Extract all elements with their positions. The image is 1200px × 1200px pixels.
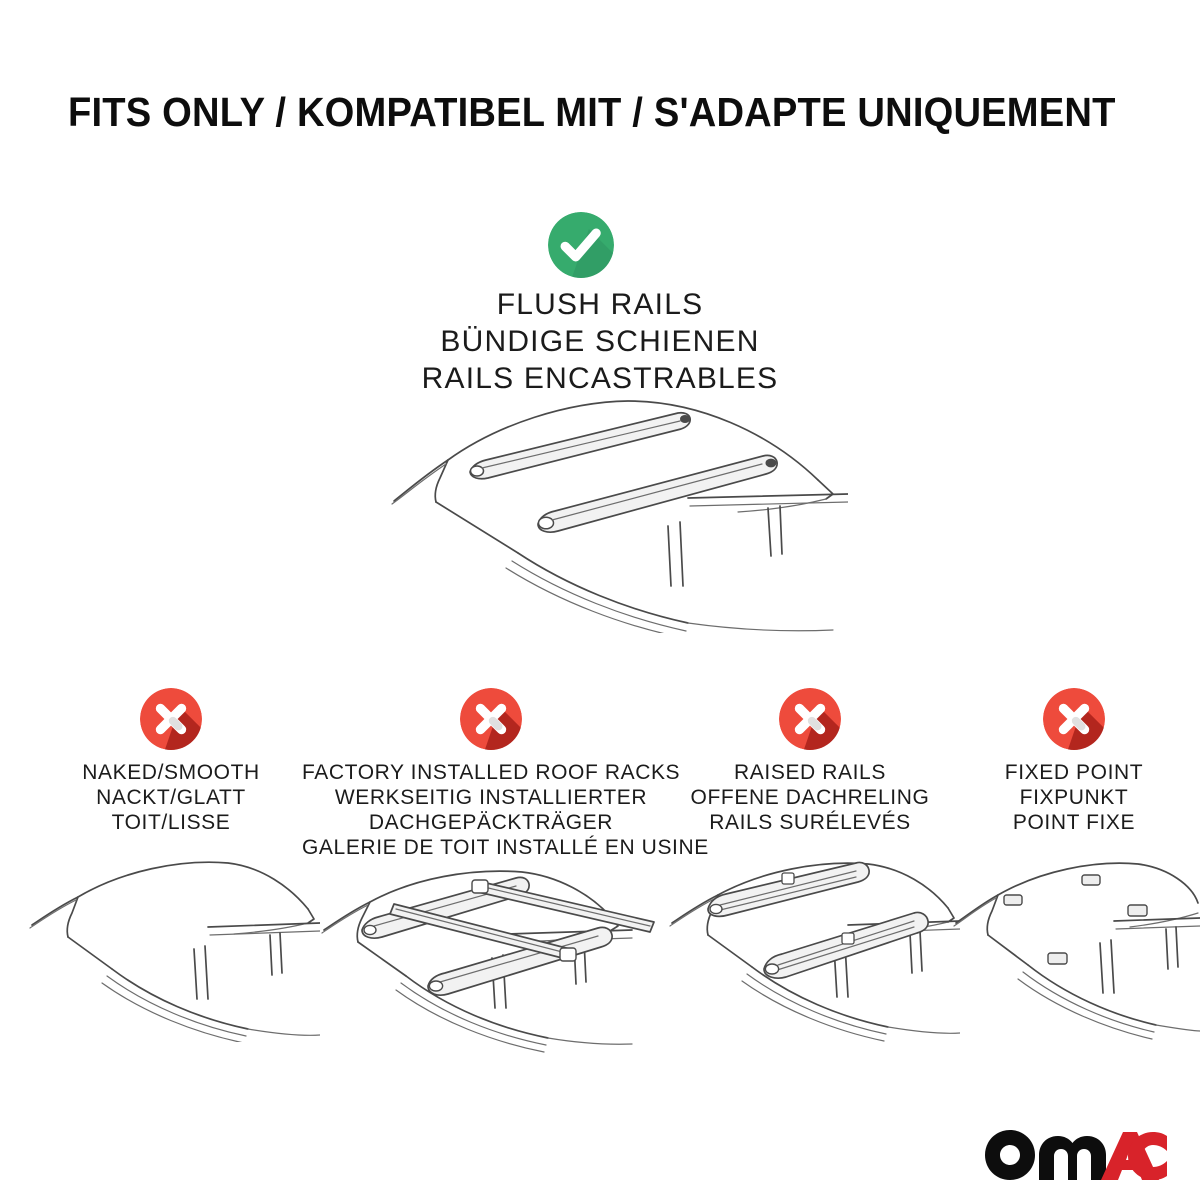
caption-line-en: NAKED/SMOOTH: [22, 760, 320, 785]
car-roof-naked-smooth-illustration: [22, 857, 320, 1057]
incompatible-options-row: NAKED/SMOOTH NACKT/GLATT TOIT/LISSE: [0, 688, 1200, 1088]
compatible-line-fr: RAILS ENCASTRABLES: [0, 360, 1200, 397]
caption-line-de-1: WERKSEITIG INSTALLIERTER: [302, 785, 680, 810]
check-circle-icon: [548, 212, 614, 278]
car-roof-fixed-point-illustration: [948, 857, 1200, 1057]
incompatible-option-raised-rails: RAISED RAILS OFFENE DACHRELING RAILS SUR…: [660, 688, 960, 1057]
option-caption: FIXED POINT FIXPUNKT POINT FIXE: [948, 760, 1200, 835]
incompatible-option-factory-roof-racks: FACTORY INSTALLED ROOF RACKS WERKSEITIG …: [302, 688, 680, 1068]
caption-line-de: OFFENE DACHRELING: [660, 785, 960, 810]
caption-line-en: FIXED POINT: [948, 760, 1200, 785]
caption-line-en: FACTORY INSTALLED ROOF RACKS: [302, 760, 680, 785]
option-caption: RAISED RAILS OFFENE DACHRELING RAILS SUR…: [660, 760, 960, 835]
caption-line-de: FIXPUNKT: [948, 785, 1200, 810]
option-caption: FACTORY INSTALLED ROOF RACKS WERKSEITIG …: [302, 760, 680, 860]
compatibility-infographic: FITS ONLY / KOMPATIBEL MIT / S'ADAPTE UN…: [0, 0, 1200, 1200]
caption-line-de: NACKT/GLATT: [22, 785, 320, 810]
compatible-line-de: BÜNDIGE SCHIENEN: [0, 323, 1200, 360]
cross-circle-icon: [779, 688, 841, 750]
cross-circle-icon: [140, 688, 202, 750]
caption-line-de-2: DACHGEPÄCKTRÄGER: [302, 810, 680, 835]
compatible-line-en: FLUSH RAILS: [0, 286, 1200, 323]
omac-logo: [985, 1128, 1167, 1184]
incompatible-option-naked-smooth: NAKED/SMOOTH NACKT/GLATT TOIT/LISSE: [22, 688, 320, 1057]
car-roof-raised-rails-illustration: [660, 857, 960, 1057]
caption-line-fr: POINT FIXE: [948, 810, 1200, 835]
cross-circle-icon: [1043, 688, 1105, 750]
car-roof-with-flush-rails-illustration: [378, 398, 848, 633]
cross-circle-icon: [460, 688, 522, 750]
caption-line-fr: TOIT/LISSE: [22, 810, 320, 835]
option-caption: NAKED/SMOOTH NACKT/GLATT TOIT/LISSE: [22, 760, 320, 835]
caption-line-en: RAISED RAILS: [660, 760, 960, 785]
incompatible-option-fixed-point: FIXED POINT FIXPUNKT POINT FIXE: [948, 688, 1200, 1057]
caption-line-fr: GALERIE DE TOIT INSTALLÉ EN USINE: [302, 835, 680, 860]
caption-line-fr: RAILS SURÉLEVÉS: [660, 810, 960, 835]
page-title: FITS ONLY / KOMPATIBEL MIT / S'ADAPTE UN…: [68, 88, 1063, 136]
car-roof-factory-installed-roof-racks-illustration: [302, 868, 680, 1068]
compatible-caption: FLUSH RAILS BÜNDIGE SCHIENEN RAILS ENCAS…: [0, 286, 1200, 397]
